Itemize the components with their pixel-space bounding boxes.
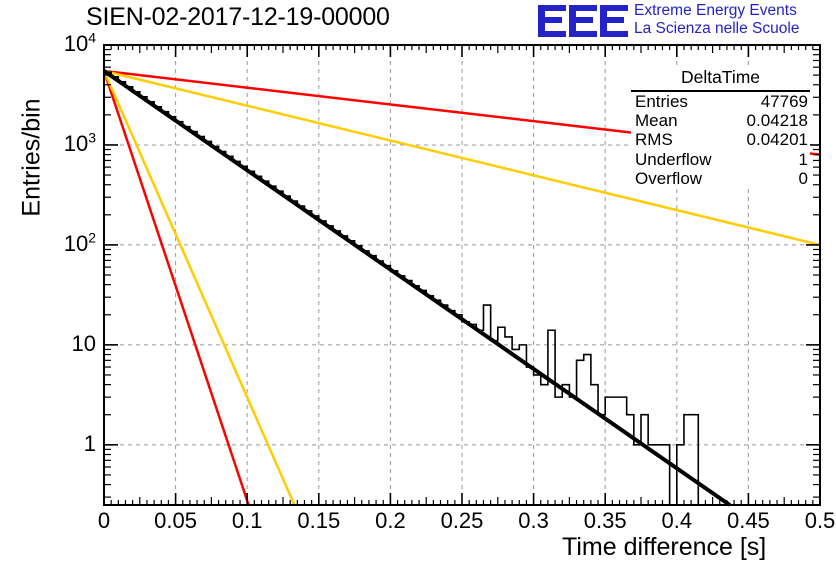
stats-row-key: Entries	[635, 93, 688, 111]
stats-row-value: 1	[799, 151, 808, 169]
stats-box-rows: Entries47769Mean0.04218RMS0.04201Underfl…	[631, 92, 810, 189]
stats-box: DeltaTime Entries47769Mean0.04218RMS0.04…	[631, 66, 810, 189]
stats-row-value: 47769	[761, 93, 808, 111]
stats-box-title: DeltaTime	[631, 66, 810, 92]
stats-row-value: 0.04201	[747, 131, 808, 149]
stats-row-key: RMS	[635, 131, 673, 149]
stats-row-key: Underflow	[635, 151, 712, 169]
stats-row: RMS0.04201	[631, 131, 810, 150]
histogram-outline	[104, 72, 698, 505]
fit-red-steep	[104, 71, 249, 505]
stats-row-key: Overflow	[635, 170, 702, 188]
stats-row: Mean0.04218	[631, 111, 810, 130]
stats-row-key: Mean	[635, 112, 678, 130]
stats-row-value: 0	[799, 170, 808, 188]
stats-row-value: 0.04218	[747, 112, 808, 130]
stats-row: Underflow1	[631, 150, 810, 169]
stats-row: Entries47769	[631, 92, 810, 111]
stats-row: Overflow0	[631, 170, 810, 189]
